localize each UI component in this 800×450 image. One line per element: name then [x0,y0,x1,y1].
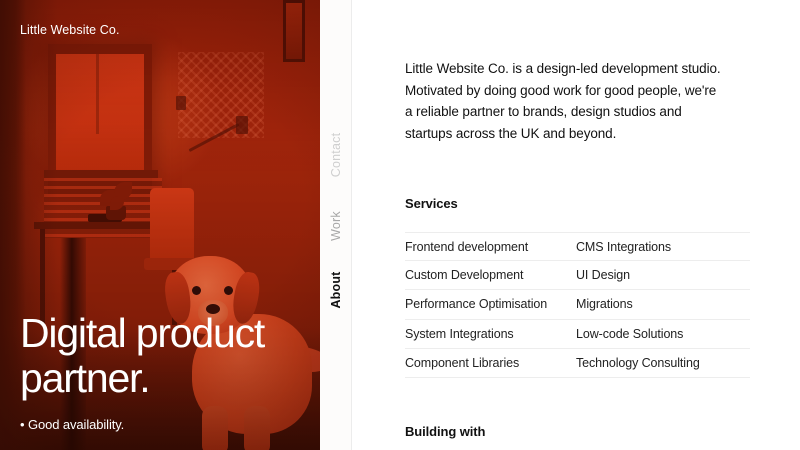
content-panel: Little Website Co. is a design-led devel… [352,0,800,450]
building-with-heading: Building with [405,424,750,439]
nav-item-about-label: About [329,271,343,308]
service-name: System Integrations [405,327,576,341]
hero-copy: Digital product partner. • Good availabi… [20,311,320,432]
availability-status: • Good availability. [20,417,320,432]
table-row: Performance Optimisation Migrations [405,290,750,319]
service-name: Low-code Solutions [576,327,750,341]
service-name: UI Design [576,268,750,282]
nav-item-work[interactable]: Work [321,219,351,233]
site-logo[interactable]: Little Website Co. [20,23,120,37]
service-name: Technology Consulting [576,356,750,370]
vertical-nav: Contact Work About [320,0,352,450]
page-root: Little Website Co. Digital product partn… [0,0,800,450]
services-table: Frontend development CMS Integrations Cu… [405,232,750,378]
table-row: Component Libraries Technology Consultin… [405,349,750,378]
table-row: System Integrations Low-code Solutions [405,320,750,349]
nav-item-work-label: Work [329,211,343,241]
hero-panel: Little Website Co. Digital product partn… [0,0,320,450]
services-heading: Services [405,196,750,211]
hero-title: Digital product partner. [20,311,320,401]
service-name: Performance Optimisation [405,297,576,311]
service-name: CMS Integrations [576,240,750,254]
service-name: Custom Development [405,268,576,282]
service-name: Component Libraries [405,356,576,370]
service-name: Frontend development [405,240,576,254]
nav-item-contact-label: Contact [329,133,343,177]
table-row: Frontend development CMS Integrations [405,232,750,261]
service-name: Migrations [576,297,750,311]
nav-item-about[interactable]: About [317,283,354,297]
intro-paragraph: Little Website Co. is a design-led devel… [405,58,725,144]
table-row: Custom Development UI Design [405,261,750,290]
